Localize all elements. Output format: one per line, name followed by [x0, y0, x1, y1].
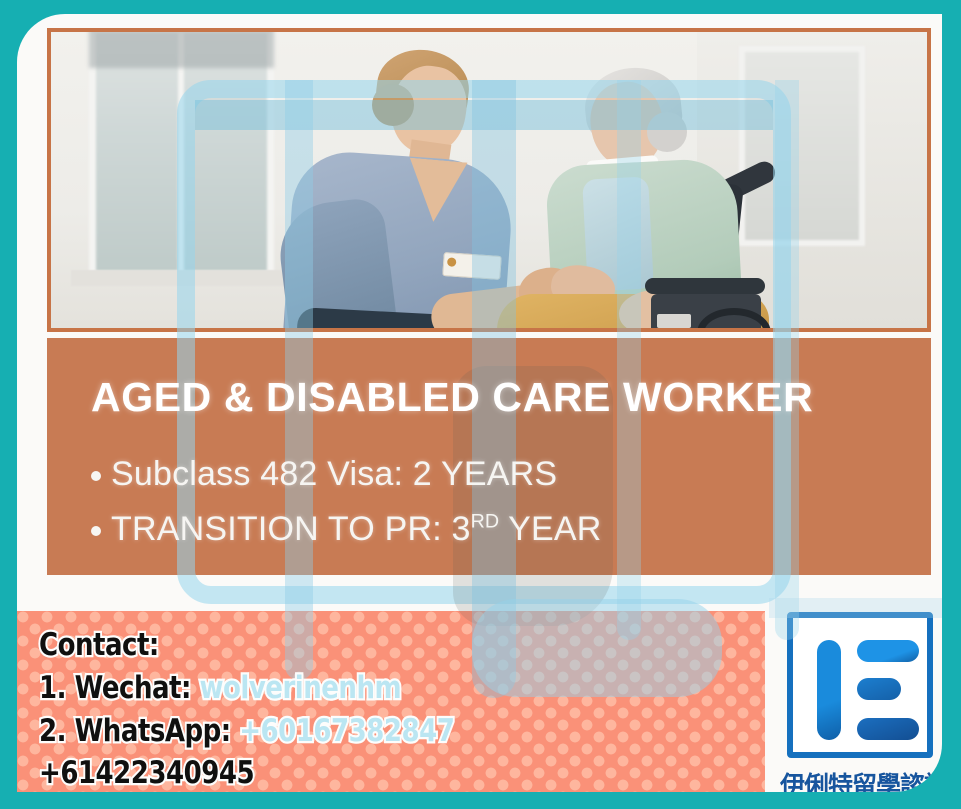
monogram-bar-middle	[857, 678, 901, 700]
page-title: AGED & DISABLED CARE WORKER	[91, 374, 931, 421]
contact-value-whatsapp-2[interactable]: +61422340945	[39, 755, 254, 791]
flyer-canvas: AGED & DISABLED CARE WORKER Subclass 482…	[0, 0, 961, 809]
company-name-zh: 伊俐特留學諮詢	[779, 766, 942, 792]
resident-hair-bun	[647, 112, 687, 152]
bullet-text: TRANSITION TO PR: 3	[111, 510, 471, 548]
contact-label: 2. WhatsApp:	[39, 713, 231, 749]
bullet-ordinal-suffix: RD	[471, 511, 499, 533]
photo-window-header	[89, 28, 274, 68]
contact-row-wechat: 1. Wechat: wolverinenhm	[39, 670, 649, 708]
white-card: AGED & DISABLED CARE WORKER Subclass 482…	[17, 14, 942, 792]
contact-row-whatsapp: 2. WhatsApp: +60167382847	[39, 713, 649, 751]
wheelchair-label	[657, 314, 691, 328]
contact-heading: Contact:	[39, 627, 649, 665]
contact-band: Contact: 1. Wechat: wolverinenhm 2. What…	[17, 611, 765, 792]
care-photo	[51, 32, 927, 328]
benefit-list: Subclass 482 Visa: 2 YEARS TRANSITION TO…	[91, 447, 931, 557]
photo-window-sill	[71, 270, 293, 286]
monogram-bar-bottom	[857, 718, 919, 740]
monogram-bar-top	[857, 640, 919, 662]
contact-value-wechat[interactable]: wolverinenhm	[199, 670, 401, 706]
list-item: Subclass 482 Visa: 2 YEARS	[111, 447, 931, 502]
photo-right-window	[739, 46, 865, 246]
monogram-vertical-bar	[817, 640, 841, 740]
nurse-name-badge	[442, 252, 502, 280]
company-logo[interactable]: 伊俐特留學諮詢	[779, 606, 942, 792]
wheelchair-armrest	[645, 278, 765, 294]
headline-panel: AGED & DISABLED CARE WORKER Subclass 482…	[47, 338, 931, 575]
contact-value-whatsapp-1[interactable]: +60167382847	[239, 713, 454, 749]
nurse-hair-bun	[372, 84, 414, 126]
ie-monogram-icon	[787, 612, 933, 758]
contact-heading-text: Contact:	[39, 627, 159, 663]
bullet-text-tail: YEAR	[499, 510, 601, 548]
contact-label: 1. Wechat:	[39, 670, 191, 706]
photo-frame	[47, 28, 931, 332]
list-item: TRANSITION TO PR: 3RD YEAR	[111, 502, 931, 557]
contact-row-whatsapp-alt: +61422340945	[39, 755, 649, 792]
bullet-text: Subclass 482 Visa: 2 YEARS	[111, 455, 557, 493]
